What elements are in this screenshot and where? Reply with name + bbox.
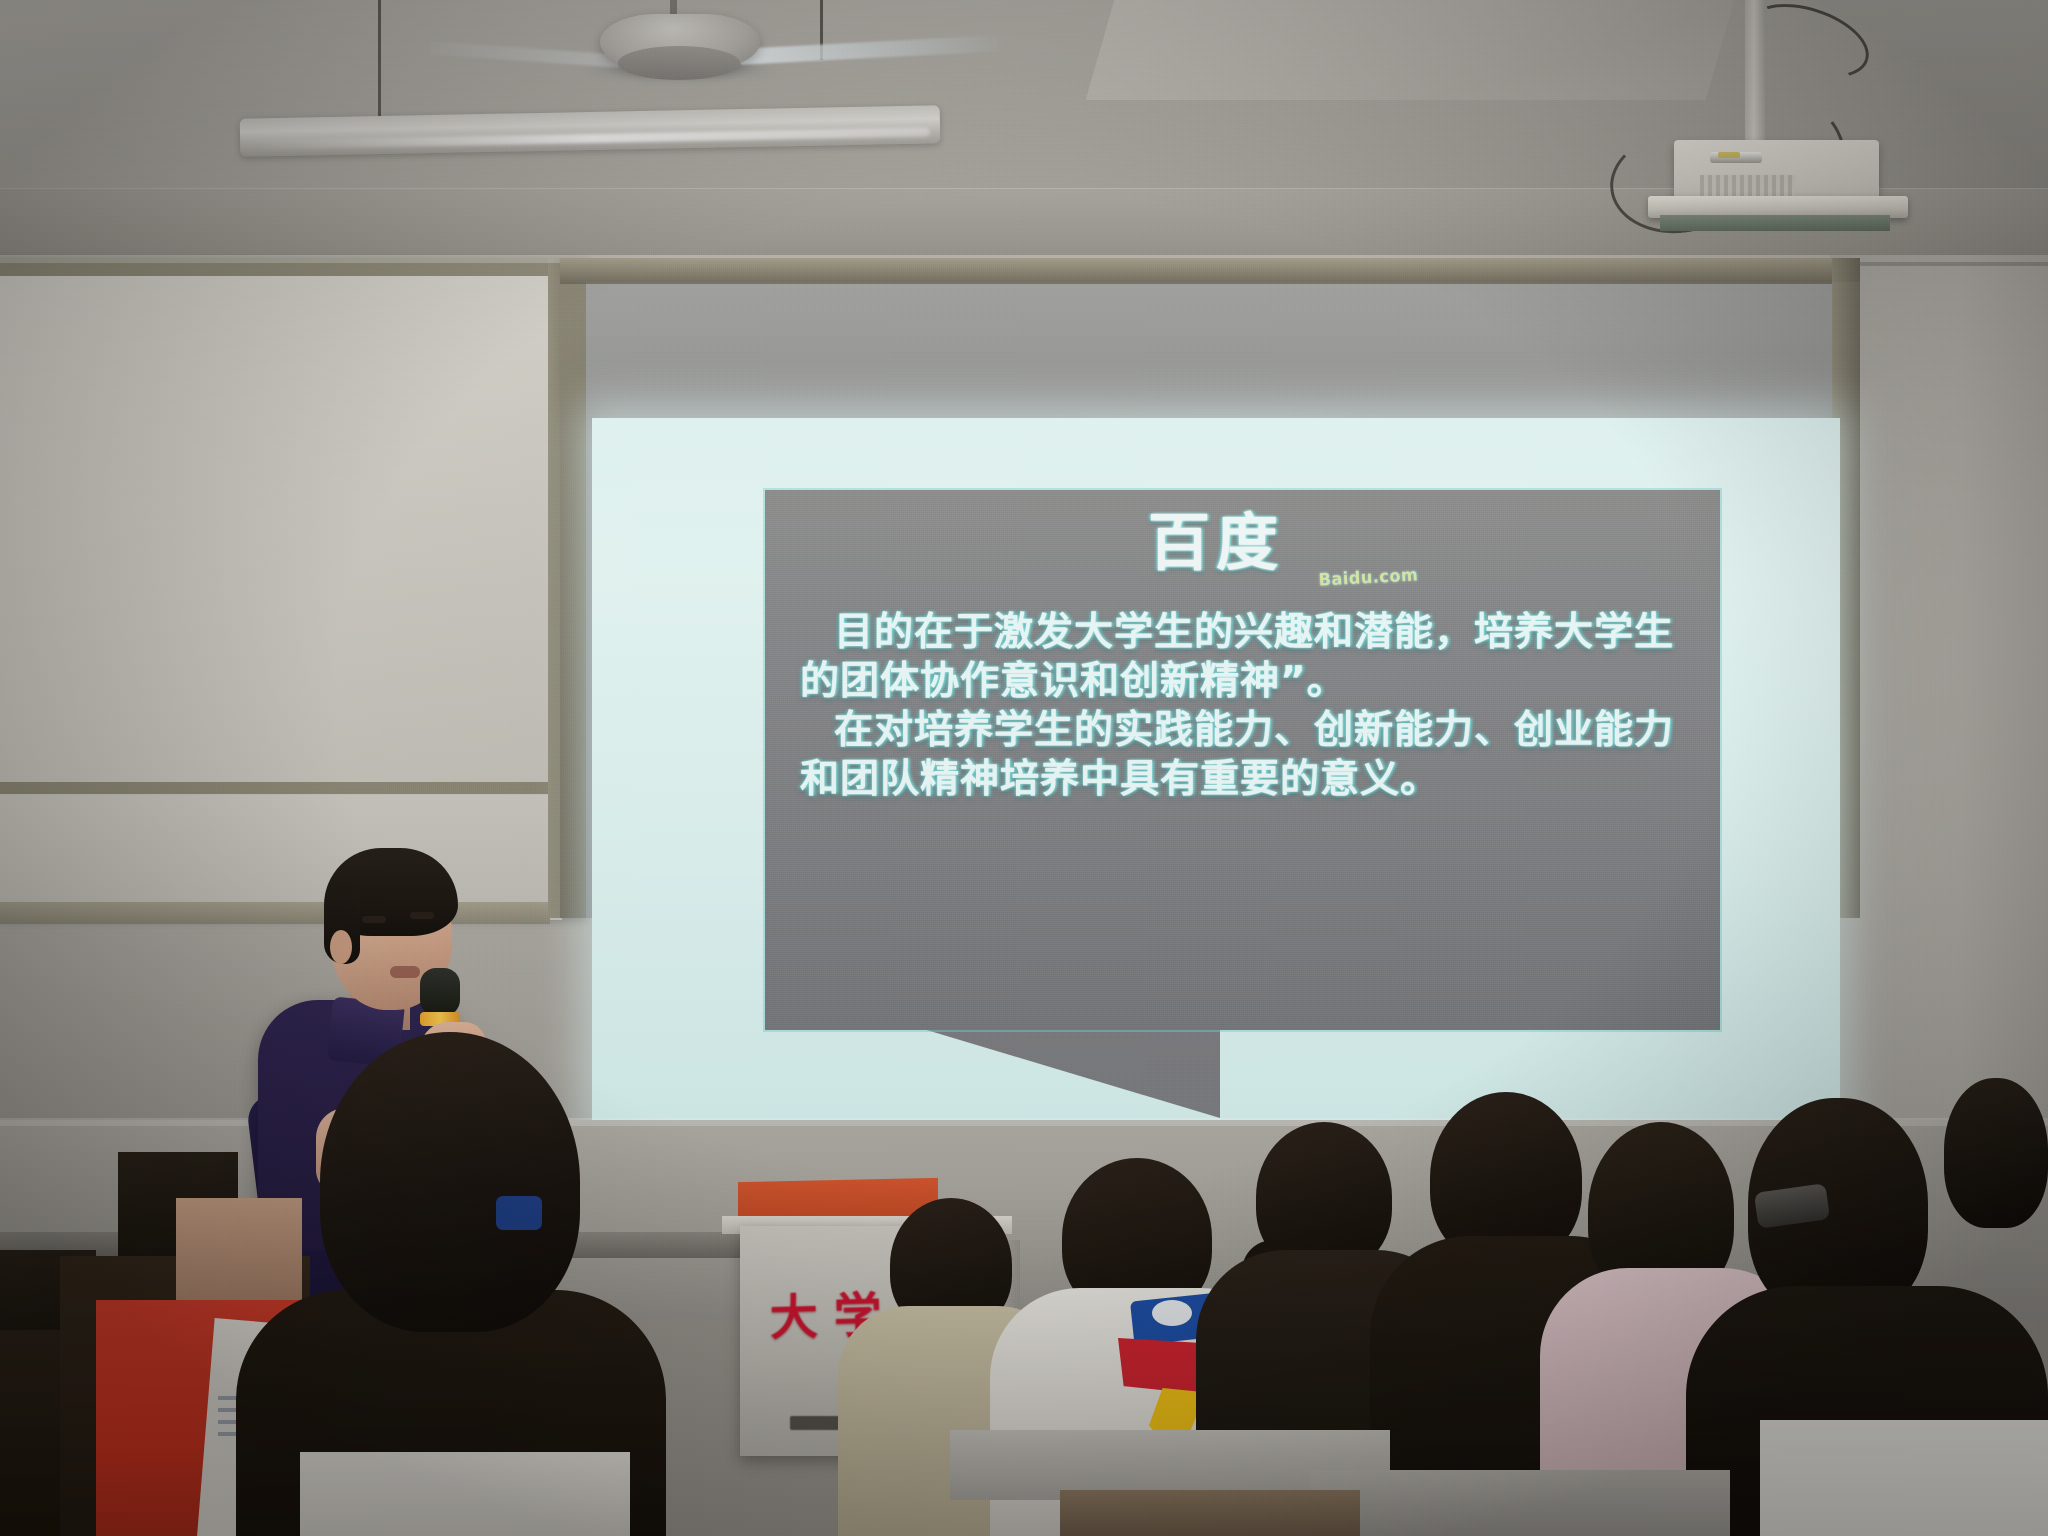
- slide-line-2: 的团体协作意识和创新精神”。: [800, 657, 1690, 706]
- whiteboard-marker-tray: [0, 902, 550, 924]
- desk-right: [1310, 1470, 1730, 1536]
- baidu-logo-text: 百度: [1148, 512, 1398, 574]
- slide-line-1: 目的在于激发大学生的兴趣和潜能，培养大学生: [800, 608, 1690, 657]
- tee-graphic-blue-inner: [1152, 1300, 1192, 1326]
- desk-wood-lower: [1060, 1490, 1360, 1536]
- speaker-eye-left: [362, 916, 386, 923]
- audience-head-foreground: [320, 1032, 580, 1332]
- projector-mount-bar: [1660, 215, 1890, 231]
- slide-line-4: 和团队精神培养中具有重要的意义。: [800, 755, 1690, 804]
- ceiling-duct: [1086, 0, 1735, 100]
- hair-clip-icon: [496, 1196, 542, 1230]
- audience-head-far-right: [1944, 1078, 2048, 1228]
- speaker-eye-right: [410, 912, 434, 919]
- projector-lens-glow: [1718, 152, 1740, 158]
- classroom-photo: 百度 Baidu.com 目的在于激发大学生的兴趣和潜能，培养大学生 的团体协作…: [0, 0, 2048, 1536]
- light-suspension-wire: [378, 0, 381, 118]
- speaker-ear: [330, 930, 352, 964]
- ceiling-fan-motor: [618, 46, 740, 80]
- slide-line-3: 在对培养学生的实践能力、创新能力、创业能力: [800, 706, 1690, 755]
- speaker-mouth: [390, 966, 420, 978]
- baidu-logo: 百度 Baidu.com: [1148, 512, 1398, 598]
- speech-bubble-tail: [900, 1028, 1220, 1118]
- slide-body-text: 目的在于激发大学生的兴趣和潜能，培养大学生 的团体协作意识和创新精神”。 在对培…: [800, 608, 1690, 804]
- screen-frame-top-rail: [560, 258, 1860, 284]
- whiteboard-divider: [0, 782, 562, 794]
- audience-white-shirt-right: [1760, 1420, 2048, 1536]
- foreground-student-shirt: [300, 1452, 630, 1536]
- whiteboard-top-highlight: [0, 258, 588, 263]
- microphone-icon: [420, 968, 460, 1016]
